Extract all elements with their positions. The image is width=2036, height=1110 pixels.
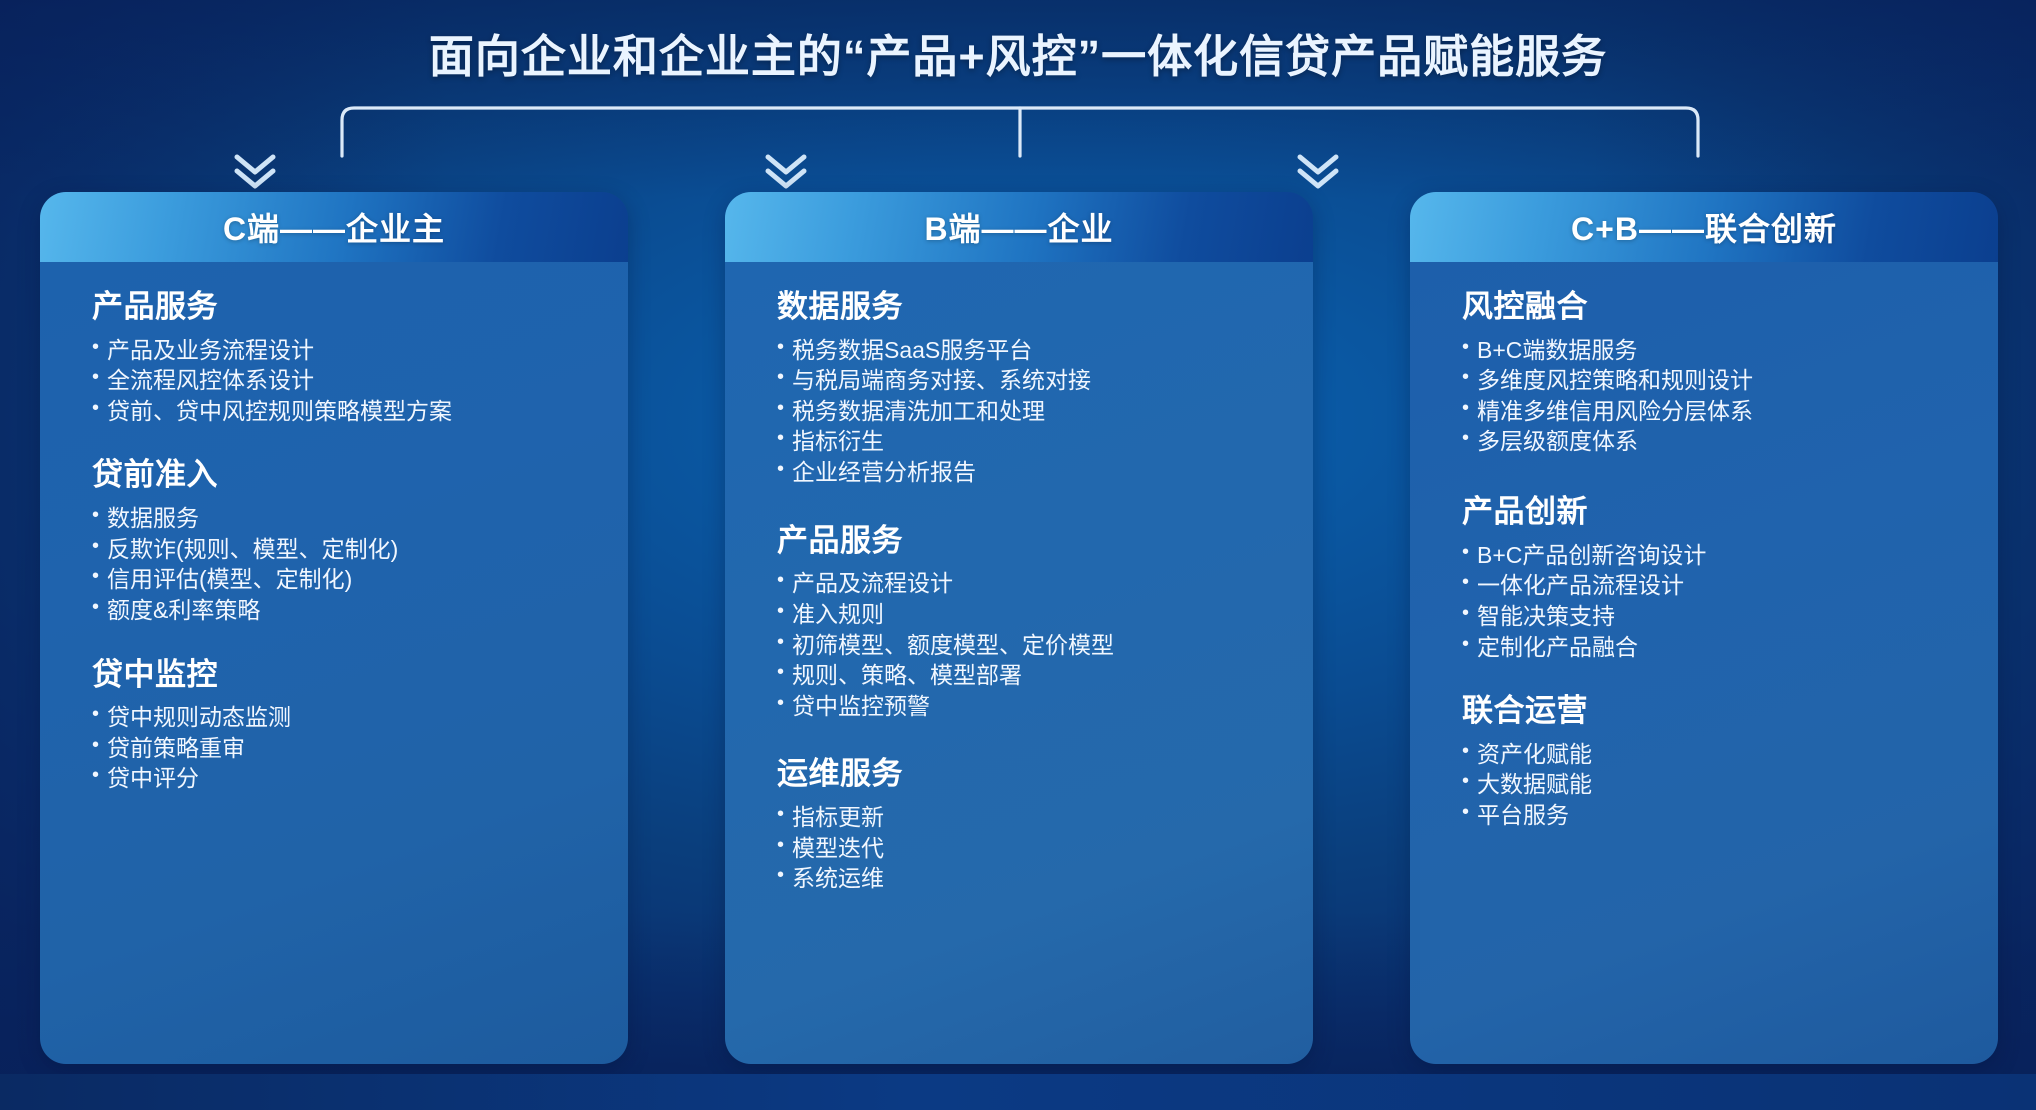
section-title: 产品服务 <box>92 288 588 327</box>
list-item: 数据服务 <box>92 503 588 534</box>
card-body-c-end: 产品服务 产品及业务流程设计 全流程风控体系设计 贷前、贷中风控规则策略模型方案… <box>40 262 628 1064</box>
section-risk-control-fusion: 风控融合 B+C端数据服务 多维度风控策略和规则设计 精准多维信用风险分层体系 … <box>1462 288 1958 457</box>
bullet-list: 税务数据SaaS服务平台 与税局端商务对接、系统对接 税务数据清洗加工和处理 指… <box>777 335 1273 488</box>
list-item: 额度&利率策略 <box>92 595 588 626</box>
list-item: 企业经营分析报告 <box>777 457 1273 488</box>
bullet-list: 贷中规则动态监测 贷前策略重审 贷中评分 <box>92 702 588 794</box>
list-item: 税务数据SaaS服务平台 <box>777 335 1273 366</box>
list-item: 指标衍生 <box>777 426 1273 457</box>
section-pre-loan-access: 贷前准入 数据服务 反欺诈(规则、模型、定制化) 信用评估(模型、定制化) 额度… <box>92 456 588 625</box>
double-chevron-down-icon <box>763 152 809 192</box>
bullet-list: B+C产品创新咨询设计 一体化产品流程设计 智能决策支持 定制化产品融合 <box>1462 540 1958 662</box>
card-body-b-end: 数据服务 税务数据SaaS服务平台 与税局端商务对接、系统对接 税务数据清洗加工… <box>725 262 1313 1064</box>
list-item: 系统运维 <box>777 863 1273 894</box>
section-title: 贷中监控 <box>92 656 588 695</box>
list-item: B+C端数据服务 <box>1462 335 1958 366</box>
list-item: 贷前、贷中风控规则策略模型方案 <box>92 396 588 427</box>
slide-canvas: 面向企业和企业主的“产品+风控”一体化信贷产品赋能服务 C端——企业主 产品服务… <box>0 0 2036 1110</box>
list-item: 多层级额度体系 <box>1462 426 1958 457</box>
list-item: 与税局端商务对接、系统对接 <box>777 365 1273 396</box>
list-item: 多维度风控策略和规则设计 <box>1462 365 1958 396</box>
section-in-loan-monitoring: 贷中监控 贷中规则动态监测 贷前策略重审 贷中评分 <box>92 656 588 794</box>
section-operations-service: 运维服务 指标更新 模型迭代 系统运维 <box>777 755 1273 893</box>
list-item: 全流程风控体系设计 <box>92 365 588 396</box>
page-title: 面向企业和企业主的“产品+风控”一体化信贷产品赋能服务 <box>0 20 2036 85</box>
section-product-innovation: 产品创新 B+C产品创新咨询设计 一体化产品流程设计 智能决策支持 定制化产品融… <box>1462 493 1958 662</box>
card-c-end: C端——企业主 产品服务 产品及业务流程设计 全流程风控体系设计 贷前、贷中风控… <box>40 192 628 1064</box>
bullet-list: B+C端数据服务 多维度风控策略和规则设计 精准多维信用风险分层体系 多层级额度… <box>1462 335 1958 457</box>
double-chevron-down-icon <box>232 152 278 192</box>
section-data-service: 数据服务 税务数据SaaS服务平台 与税局端商务对接、系统对接 税务数据清洗加工… <box>777 288 1273 488</box>
list-item: 智能决策支持 <box>1462 601 1958 632</box>
section-title: 运维服务 <box>777 755 1273 794</box>
bottom-strip <box>0 1074 2036 1110</box>
list-item: 规则、策略、模型部署 <box>777 660 1273 691</box>
bullet-list: 产品及流程设计 准入规则 初筛模型、额度模型、定价模型 规则、策略、模型部署 贷… <box>777 568 1273 721</box>
section-title: 产品服务 <box>777 522 1273 561</box>
list-item: 资产化赋能 <box>1462 739 1958 770</box>
list-item: 信用评估(模型、定制化) <box>92 564 588 595</box>
section-product-service: 产品服务 产品及业务流程设计 全流程风控体系设计 贷前、贷中风控规则策略模型方案 <box>92 288 588 426</box>
columns-container: C端——企业主 产品服务 产品及业务流程设计 全流程风控体系设计 贷前、贷中风控… <box>0 192 2036 1062</box>
list-item: 平台服务 <box>1462 800 1958 831</box>
section-title: 数据服务 <box>777 288 1273 327</box>
section-title: 产品创新 <box>1462 493 1958 532</box>
bullet-list: 产品及业务流程设计 全流程风控体系设计 贷前、贷中风控规则策略模型方案 <box>92 335 588 427</box>
list-item: 贷中规则动态监测 <box>92 702 588 733</box>
section-title: 贷前准入 <box>92 456 588 495</box>
bullet-list: 资产化赋能 大数据赋能 平台服务 <box>1462 739 1958 831</box>
list-item: 贷中监控预警 <box>777 691 1273 722</box>
card-header-b-end: B端——企业 <box>725 192 1313 262</box>
card-b-end: B端——企业 数据服务 税务数据SaaS服务平台 与税局端商务对接、系统对接 税… <box>725 192 1313 1064</box>
list-item: 初筛模型、额度模型、定价模型 <box>777 630 1273 661</box>
list-item: 贷中评分 <box>92 763 588 794</box>
section-joint-operations: 联合运营 资产化赋能 大数据赋能 平台服务 <box>1462 692 1958 830</box>
list-item: B+C产品创新咨询设计 <box>1462 540 1958 571</box>
bullet-list: 指标更新 模型迭代 系统运维 <box>777 802 1273 894</box>
list-item: 税务数据清洗加工和处理 <box>777 396 1273 427</box>
list-item: 准入规则 <box>777 599 1273 630</box>
card-body-c-plus-b: 风控融合 B+C端数据服务 多维度风控策略和规则设计 精准多维信用风险分层体系 … <box>1410 262 1998 1064</box>
list-item: 产品及业务流程设计 <box>92 335 588 366</box>
double-chevron-down-icon <box>1295 152 1341 192</box>
list-item: 定制化产品融合 <box>1462 632 1958 663</box>
list-item: 指标更新 <box>777 802 1273 833</box>
list-item: 反欺诈(规则、模型、定制化) <box>92 534 588 565</box>
card-header-c-plus-b: C+B——联合创新 <box>1410 192 1998 262</box>
section-title: 风控融合 <box>1462 288 1958 327</box>
bullet-list: 数据服务 反欺诈(规则、模型、定制化) 信用评估(模型、定制化) 额度&利率策略 <box>92 503 588 625</box>
card-header-c-end: C端——企业主 <box>40 192 628 262</box>
list-item: 精准多维信用风险分层体系 <box>1462 396 1958 427</box>
list-item: 贷前策略重审 <box>92 733 588 764</box>
list-item: 大数据赋能 <box>1462 769 1958 800</box>
list-item: 一体化产品流程设计 <box>1462 570 1958 601</box>
list-item: 模型迭代 <box>777 833 1273 864</box>
connector-bracket <box>330 100 1710 162</box>
list-item: 产品及流程设计 <box>777 568 1273 599</box>
section-product-service: 产品服务 产品及流程设计 准入规则 初筛模型、额度模型、定价模型 规则、策略、模… <box>777 522 1273 722</box>
section-title: 联合运营 <box>1462 692 1958 731</box>
card-c-plus-b: C+B——联合创新 风控融合 B+C端数据服务 多维度风控策略和规则设计 精准多… <box>1410 192 1998 1064</box>
